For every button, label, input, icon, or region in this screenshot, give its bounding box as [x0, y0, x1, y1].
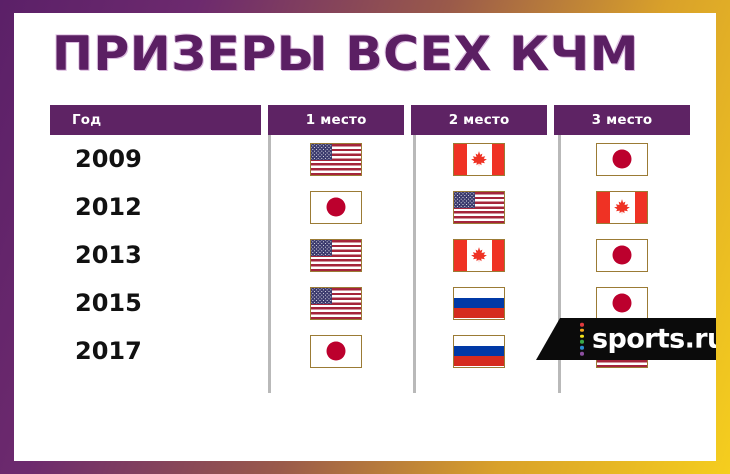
flag-usa-icon: [310, 239, 362, 272]
page-title: ПРИЗЕРЫ ВСЕХ КЧМ: [52, 31, 639, 78]
cell-place2: [411, 287, 547, 320]
japan-disc: [327, 342, 346, 361]
canada-band-left: [597, 192, 610, 223]
japan-disc: [613, 294, 632, 313]
flag-japan-icon: [310, 191, 362, 224]
column-header-year: Год: [50, 105, 261, 135]
cell-place1: [268, 239, 404, 272]
japan-disc: [613, 246, 632, 265]
cell-place1: [268, 335, 404, 368]
logo-dot: [580, 329, 584, 333]
cell-place3: [554, 143, 690, 176]
flag-canada-icon: [453, 143, 505, 176]
russia-band-blue: [454, 298, 504, 308]
flag-russia-icon: [453, 335, 505, 368]
cell-place2: [411, 335, 547, 368]
japan-disc: [327, 198, 346, 217]
cell-place3: [554, 287, 690, 320]
russia-band-red: [454, 356, 504, 366]
cell-place1: [268, 191, 404, 224]
poster-sheet: ПРИЗЕРЫ ВСЕХ КЧМ Год 1 место 2 место 3 м…: [14, 13, 716, 461]
table-row: 2013: [50, 231, 690, 279]
maple-leaf-icon: [470, 150, 488, 168]
table-row: 2009: [50, 135, 690, 183]
logo-dot: [580, 323, 584, 327]
cell-place2: [411, 191, 547, 224]
flag-usa-icon: [453, 191, 505, 224]
table-row: 2012: [50, 183, 690, 231]
flag-japan-icon: [596, 287, 648, 320]
header-gap: [261, 105, 268, 135]
flag-japan-icon: [596, 239, 648, 272]
russia-band-white: [454, 336, 504, 346]
column-header-place2: 2 место: [411, 105, 547, 135]
usa-canton: [454, 192, 475, 209]
cell-place3: [554, 191, 690, 224]
column-header-place3: 3 место: [554, 105, 690, 135]
flag-canada-icon: [596, 191, 648, 224]
usa-canton: [311, 288, 332, 305]
column-header-place1: 1 место: [268, 105, 404, 135]
flag-usa-icon: [310, 143, 362, 176]
cell-year: 2017: [50, 337, 261, 365]
maple-leaf-icon: [470, 246, 488, 264]
header-gap: [547, 105, 554, 135]
logo-dot: [580, 340, 584, 344]
cell-place1: [268, 143, 404, 176]
column-divider: [413, 135, 416, 393]
logo-dot: [580, 346, 584, 350]
cell-year: 2015: [50, 289, 261, 317]
canada-band-left: [454, 240, 467, 271]
logo-text: sports.ru: [592, 324, 716, 355]
column-divider: [268, 135, 271, 393]
canada-band-right: [492, 144, 505, 175]
logo-dots-icon: [580, 323, 584, 356]
flag-canada-icon: [453, 239, 505, 272]
russia-band-red: [454, 308, 504, 318]
cell-place3: [554, 239, 690, 272]
poster-frame: ПРИЗЕРЫ ВСЕХ КЧМ Год 1 место 2 место 3 м…: [0, 0, 730, 474]
cell-year: 2013: [50, 241, 261, 269]
japan-disc: [613, 150, 632, 169]
russia-band-white: [454, 288, 504, 298]
logo-dot: [580, 334, 584, 338]
usa-canton: [311, 144, 332, 161]
usa-canton: [311, 240, 332, 257]
flag-japan-icon: [310, 335, 362, 368]
canada-band-right: [635, 192, 648, 223]
header-gap: [404, 105, 411, 135]
cell-place2: [411, 143, 547, 176]
flag-japan-icon: [596, 143, 648, 176]
maple-leaf-icon: [613, 198, 631, 216]
canada-band-left: [454, 144, 467, 175]
flag-usa-icon: [310, 287, 362, 320]
russia-band-blue: [454, 346, 504, 356]
cell-year: 2012: [50, 193, 261, 221]
cell-year: 2009: [50, 145, 261, 173]
flag-russia-icon: [453, 287, 505, 320]
sports-ru-logo[interactable]: sports.ru: [536, 318, 716, 360]
cell-place2: [411, 239, 547, 272]
cell-place1: [268, 287, 404, 320]
table-header-row: Год 1 место 2 место 3 место: [50, 105, 690, 135]
logo-dot: [580, 352, 584, 356]
canada-band-right: [492, 240, 505, 271]
